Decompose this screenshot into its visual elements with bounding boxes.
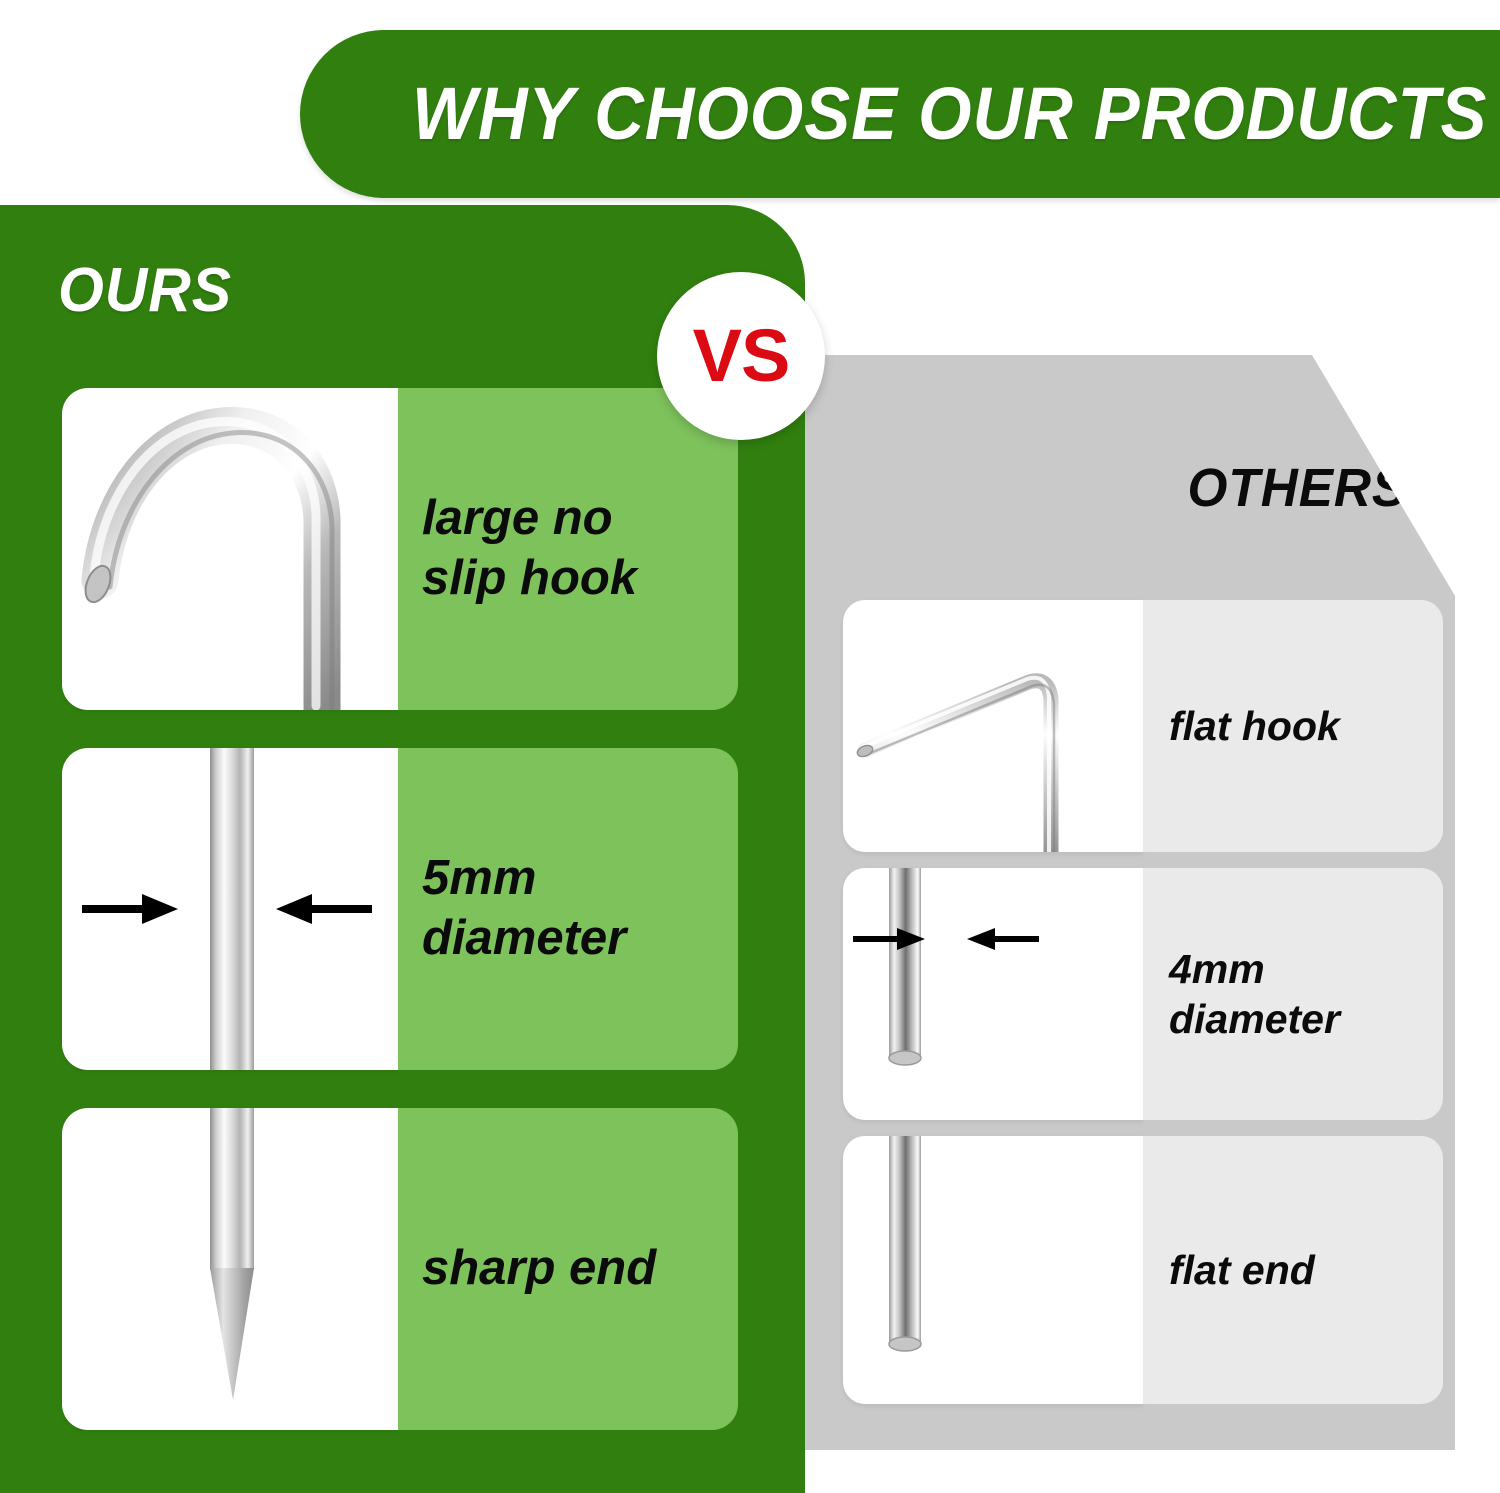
metal-rod-thin-icon (843, 868, 1143, 1120)
j-hook-curved-icon (62, 388, 398, 710)
others-feature-label: 4mm diameter (1143, 944, 1340, 1044)
ours-feature-row: sharp end (62, 1108, 738, 1430)
ours-feature-label-cell: sharp end (398, 1108, 738, 1430)
others-feature-row: flat hook (843, 600, 1443, 852)
header-banner: WHY CHOOSE OUR PRODUCTS (300, 30, 1500, 198)
product-image-flat-end (843, 1136, 1143, 1404)
infographic-stage: WHY CHOOSE OUR PRODUCTS OTHERS OURS VS (0, 0, 1500, 1493)
others-feature-row: 4mm diameter (843, 868, 1443, 1120)
ours-feature-label-cell: large no slip hook (398, 388, 738, 710)
others-feature-label-cell: flat end (1143, 1136, 1443, 1404)
dimension-arrow-right (967, 926, 1039, 952)
ours-feature-label: sharp end (398, 1239, 656, 1299)
ours-feature-row: large no slip hook (62, 388, 738, 710)
others-feature-row: flat end (843, 1136, 1443, 1404)
product-image-l-hook (843, 600, 1143, 852)
ours-feature-row: 5mm diameter (62, 748, 738, 1070)
vs-badge: VS (657, 272, 825, 440)
flat-end-rod-icon (843, 1136, 1143, 1404)
ours-feature-label-cell: 5mm diameter (398, 748, 738, 1070)
ours-feature-label: large no slip hook (398, 489, 637, 609)
dimension-arrow-left (82, 892, 178, 926)
l-bent-wire-icon (843, 600, 1143, 852)
dimension-arrow-left (853, 926, 925, 952)
sharp-point-tip-icon (62, 1108, 398, 1430)
ours-panel-title: OURS (58, 255, 232, 326)
product-image-rod-thick (62, 748, 398, 1070)
others-feature-label-cell: 4mm diameter (1143, 868, 1443, 1120)
vs-label: VS (693, 319, 790, 393)
ours-feature-label: 5mm diameter (398, 849, 626, 969)
others-feature-label: flat hook (1143, 701, 1340, 751)
dimension-arrow-right (276, 892, 372, 926)
others-feature-label-cell: flat hook (1143, 600, 1443, 852)
others-feature-label: flat end (1143, 1245, 1315, 1295)
product-image-rod-thin (843, 868, 1143, 1120)
page-title: WHY CHOOSE OUR PRODUCTS (412, 77, 1500, 151)
product-image-sharp-tip (62, 1108, 398, 1430)
others-panel-title: OTHERS (1188, 457, 1407, 519)
product-image-j-hook (62, 388, 398, 710)
